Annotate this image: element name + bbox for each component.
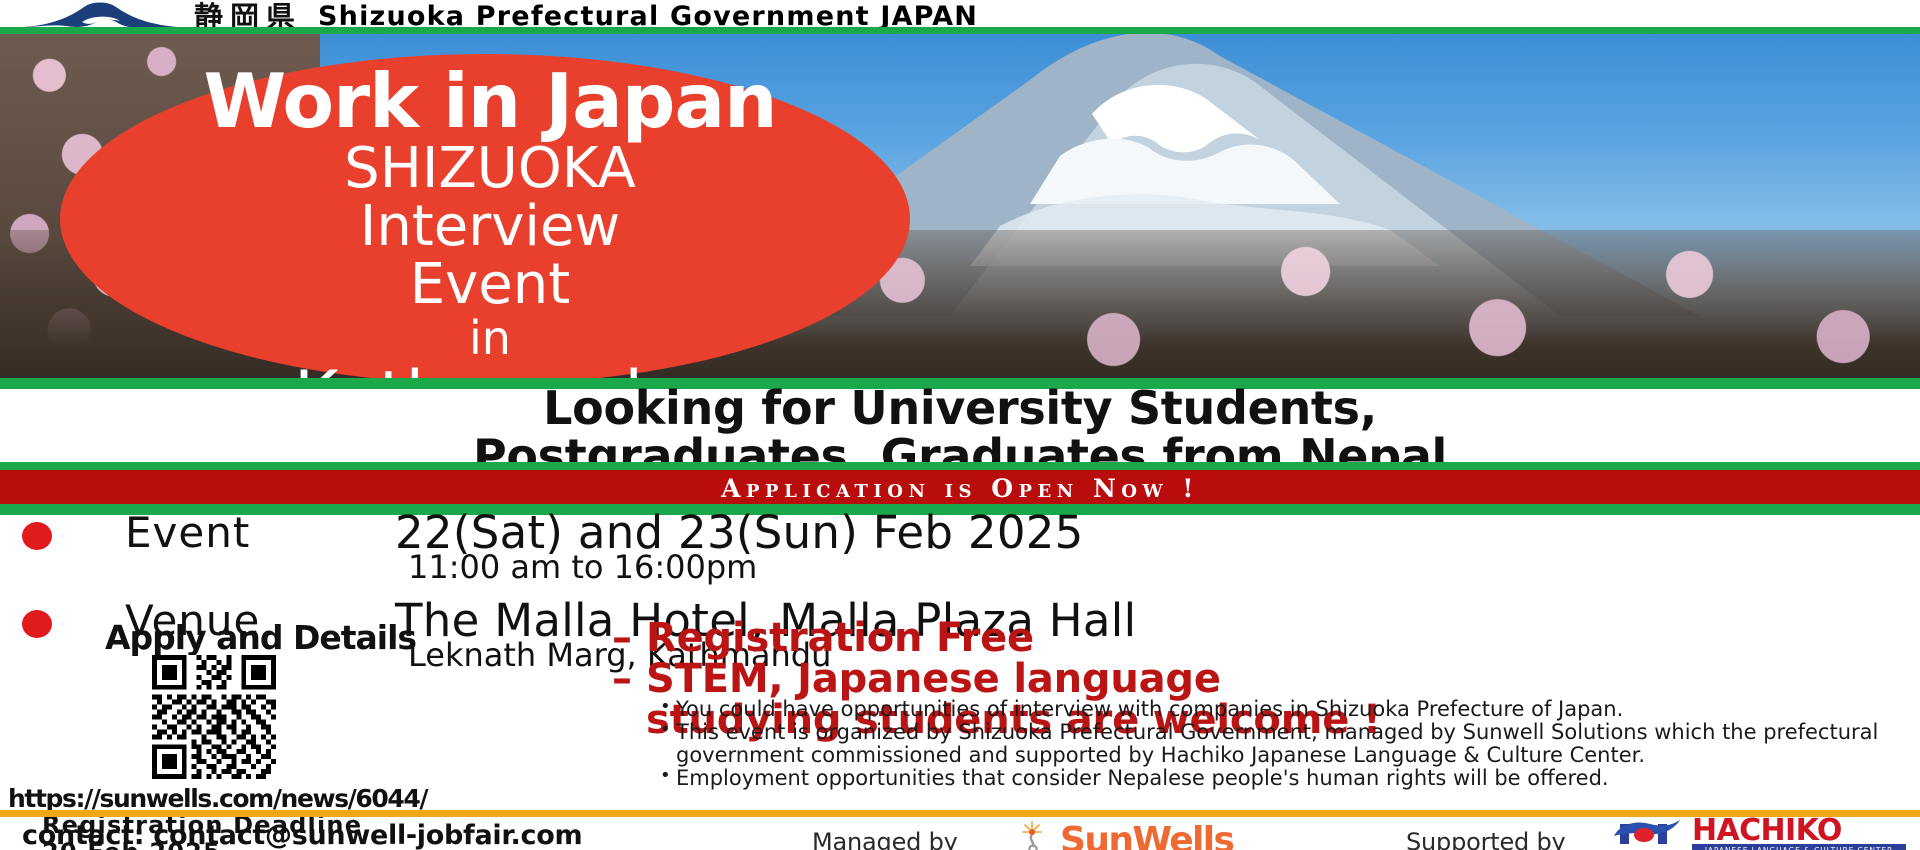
contact-email[interactable]: contact: contact@sunwell-jobfair.com [22,820,582,850]
note-item: Employment opportunities that consider N… [658,767,1908,789]
apply-and-details-title: Apply and Details [105,618,416,657]
headline-line-1: Looking for University Students, [0,385,1920,433]
event-label: Event [125,508,250,557]
event-row: Event 22(Sat) and 23(Sun) Feb 2025 11:00… [0,512,1920,564]
highlight-registration-free: –Registration Free [612,618,1912,659]
poster-root: 静岡県 Shizuoka Prefectural Government JAPA… [0,0,1920,850]
highlight-stem: –STEM, Japanese language [612,659,1912,700]
notes-list: You could have opportunities of intervie… [658,698,1908,790]
dash-icon: – [612,618,646,659]
sunwells-logo-text: SunWells [1060,820,1233,850]
orange-divider [0,810,1920,817]
managed-by-label: Managed by [812,828,958,850]
dash-icon: – [612,659,646,700]
highlight-1-text: Registration Free [646,615,1034,661]
hachiko-logo-icon [1610,818,1682,850]
title-line-shizuoka: SHIZUOKA [60,141,920,197]
title-line-interview: Interview [60,199,920,255]
title-line-kathmandu: Kathmandu [60,363,920,378]
hachiko-logo-text: HACHIKO JAPANESE LANGUAGE & CULTURE CENT… [1692,818,1910,850]
highlight-2-line1: STEM, Japanese language [646,656,1221,702]
event-time: 11:00 am to 16:00pm [408,548,757,586]
title-line-in: in [60,315,920,361]
qr-code[interactable] [152,655,276,779]
note-item: You could have opportunities of intervie… [658,698,1908,720]
title-line-event: Event [60,257,920,313]
note-item: This event is organized by Shizuoka Pref… [658,721,1908,766]
bullet-dot-icon [22,610,52,638]
application-open-text: Application is Open Now ! [721,474,1199,503]
supported-by-label: Supported by [1406,828,1566,850]
title-line-work-in-japan: Work in Japan [60,64,920,139]
apply-url[interactable]: https://sunwells.com/news/6044/ [8,784,427,813]
bullet-dot-icon [22,522,52,550]
hero-image: Work in Japan SHIZUOKA Interview Event i… [0,34,1920,378]
application-open-banner: Application is Open Now ! [0,470,1920,506]
hero-title-block: Work in Japan SHIZUOKA Interview Event i… [60,64,920,378]
hachiko-name: HACHIKO [1692,818,1910,844]
sunwells-logo-icon [1016,820,1056,850]
